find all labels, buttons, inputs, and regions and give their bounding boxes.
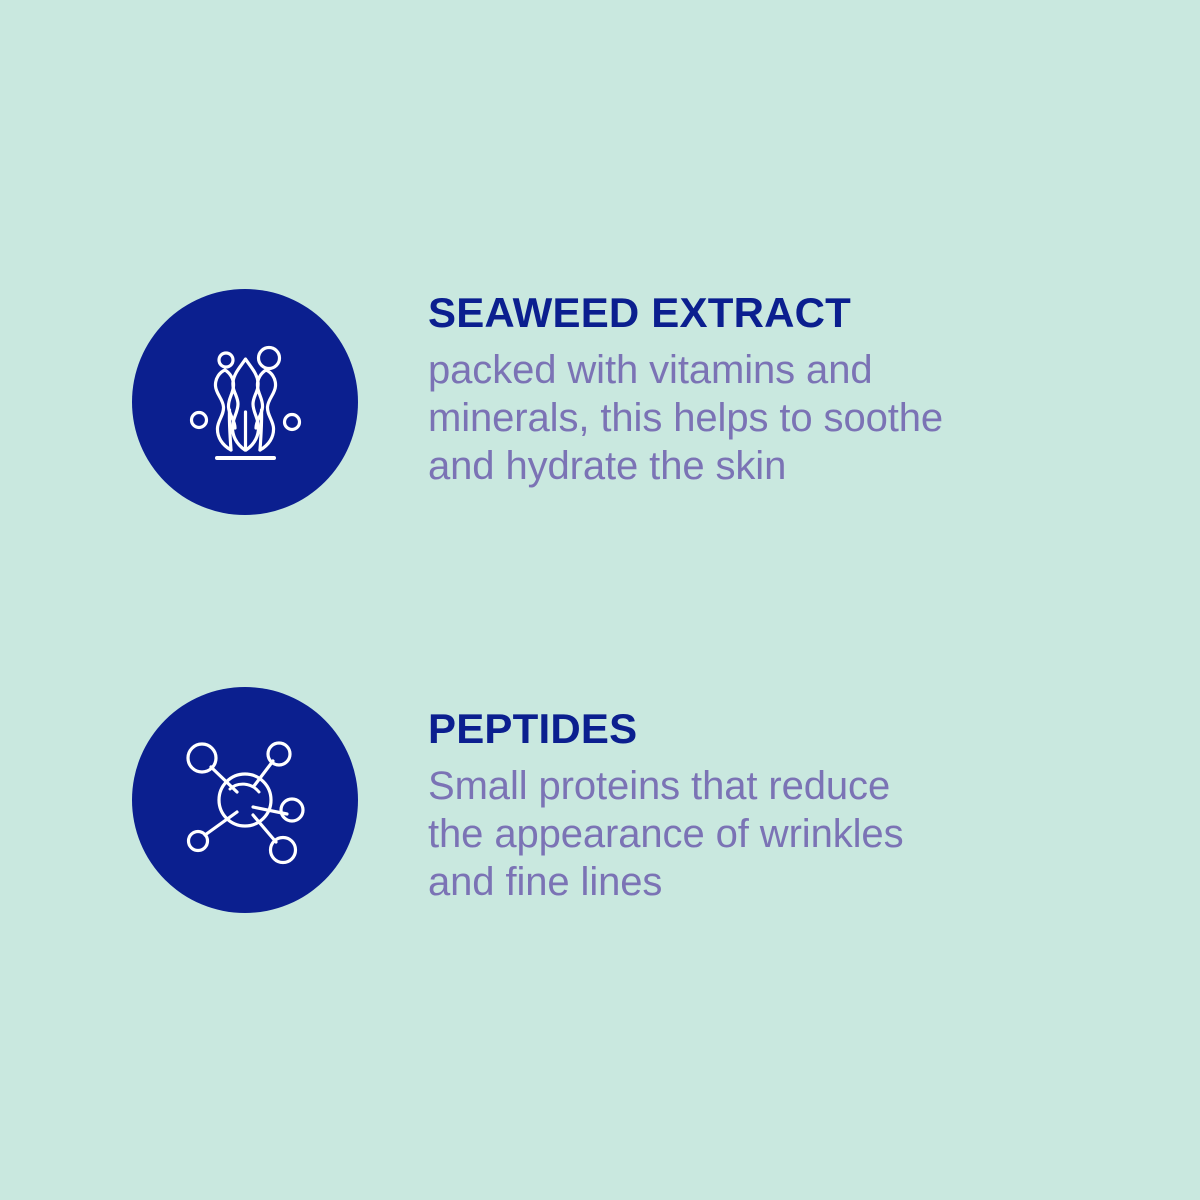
feature-body-seaweed-extract: packed with vitamins and minerals, this … <box>428 346 1028 490</box>
feature-body-line: minerals, this helps to soothe <box>428 394 1028 442</box>
seaweed-icon <box>175 332 315 472</box>
molecule-network-icon <box>175 730 315 870</box>
feature-text-peptides: PEPTIDES Small proteins that reduce the … <box>428 687 1028 906</box>
feature-title-peptides: PEPTIDES <box>428 706 1028 752</box>
feature-body-line: the appearance of wrinkles <box>428 810 1028 858</box>
ingredient-benefits-panel: SEAWEED EXTRACT packed with vitamins and… <box>0 0 1200 1200</box>
seaweed-icon-badge <box>132 289 358 515</box>
feature-body-line: and fine lines <box>428 858 1028 906</box>
feature-item-peptides: PEPTIDES Small proteins that reduce the … <box>0 687 1200 913</box>
molecule-network-icon-badge <box>132 687 358 913</box>
feature-body-line: and hydrate the skin <box>428 442 1028 490</box>
feature-title-seaweed-extract: SEAWEED EXTRACT <box>428 290 1028 336</box>
feature-item-seaweed-extract: SEAWEED EXTRACT packed with vitamins and… <box>0 289 1200 515</box>
feature-body-line: Small proteins that reduce <box>428 762 1028 810</box>
feature-text-seaweed-extract: SEAWEED EXTRACT packed with vitamins and… <box>428 289 1028 490</box>
feature-body-peptides: Small proteins that reduce the appearanc… <box>428 762 1028 906</box>
feature-body-line: packed with vitamins and <box>428 346 1028 394</box>
